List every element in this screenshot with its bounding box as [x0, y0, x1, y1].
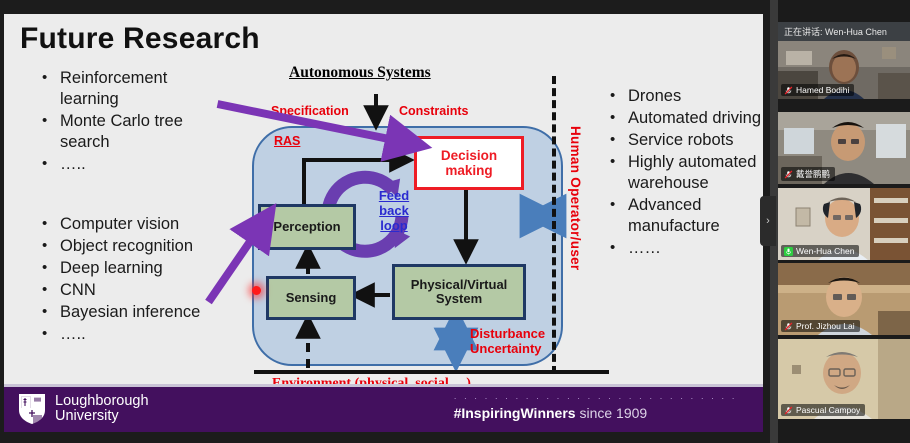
- participant-tile[interactable]: 戴誉鹏鹏: [778, 112, 910, 184]
- meeting-screen: Future Research Reinforcement learning M…: [0, 0, 910, 443]
- participant-name-chip: 戴誉鹏鹏: [781, 167, 835, 181]
- environment-divider: [254, 370, 609, 374]
- active-speaker-banner: 正在讲话: Wen-Hua Chen: [778, 22, 910, 41]
- diagram-label-human-operator: Human Operator/user: [568, 126, 583, 270]
- node-physical-virtual-system: Physical/Virtual System: [392, 264, 526, 320]
- slide-footer: Loughborough University · · · · · · · · …: [4, 384, 763, 432]
- autonomous-system-diagram: Autonomous Systems Specification Constra…: [244, 64, 614, 394]
- list-item: Drones: [604, 86, 763, 107]
- participant-name-chip: Wen-Hua Chen: [781, 245, 859, 257]
- node-feedback-loop: Feed back loop: [366, 188, 422, 233]
- participant-name: Pascual Campoy: [796, 405, 860, 415]
- mic-active-icon: [784, 247, 793, 256]
- chevron-right-icon[interactable]: ›: [760, 196, 776, 246]
- node-decision-making: Decision making: [414, 136, 524, 190]
- list-item: CNN: [36, 280, 236, 301]
- tagline-hashtag: #InspiringWinners: [454, 405, 576, 421]
- participant-name-chip: Hamed Bodihi: [781, 84, 854, 96]
- mic-muted-icon: [784, 86, 793, 95]
- logo-line-2: University: [55, 409, 149, 425]
- bullet-list-methods-bottom: Computer vision Object recognition Deep …: [36, 214, 236, 346]
- participant-name-chip: Prof. Jizhou Lai: [781, 320, 860, 332]
- list-item: Deep learning: [36, 258, 236, 279]
- list-item: …..: [36, 154, 226, 175]
- bullet-list-applications: Drones Automated driving Service robots …: [604, 86, 763, 260]
- mic-muted-icon: [784, 406, 793, 415]
- video-participants-panel: › 正在讲话: Wen-Hua Chen: [778, 0, 910, 443]
- footer-tagline: · · · · · · · · · · · · · · · · · · · · …: [454, 394, 737, 421]
- screen-share-area: Future Research Reinforcement learning M…: [0, 0, 770, 443]
- tagline-since: since 1909: [576, 405, 648, 421]
- participant-tile[interactable]: Prof. Jizhou Lai: [778, 263, 910, 335]
- bullet-list-methods-top: Reinforcement learning Monte Carlo tree …: [36, 68, 226, 176]
- participant-tile[interactable]: Hamed Bodihi: [778, 41, 910, 99]
- mic-muted-icon: [784, 170, 793, 179]
- list-item: Service robots: [604, 130, 763, 151]
- diagram-label-disturbance: Disturbance Uncertainty: [470, 326, 614, 356]
- participant-name: Hamed Bodihi: [796, 85, 849, 95]
- list-item: Object recognition: [36, 236, 236, 257]
- list-item: Reinforcement learning: [36, 68, 226, 110]
- university-logo: Loughborough University: [18, 393, 149, 425]
- presentation-slide: Future Research Reinforcement learning M…: [4, 14, 763, 432]
- participant-name: Prof. Jizhou Lai: [796, 321, 855, 331]
- logo-line-1: Loughborough: [55, 394, 149, 410]
- tagline-text: #InspiringWinners since 1909: [454, 405, 737, 421]
- participant-name: 戴誉鹏鹏: [796, 168, 830, 180]
- participant-tile-active[interactable]: Wen-Hua Chen: [778, 188, 910, 260]
- mic-muted-icon: [784, 322, 793, 331]
- list-item: Highly automated warehouse: [604, 152, 763, 194]
- participant-tile[interactable]: Pascual Campoy: [778, 339, 910, 419]
- node-perception: Perception: [258, 204, 356, 250]
- list-item: …..: [36, 324, 236, 345]
- list-item: Computer vision: [36, 214, 236, 235]
- laser-pointer-dot: [252, 286, 261, 295]
- list-item: ……: [604, 238, 763, 259]
- logo-wordmark: Loughborough University: [55, 394, 149, 425]
- list-item: Automated driving: [604, 108, 763, 129]
- crest-icon: [18, 393, 46, 425]
- page-title: Future Research: [20, 22, 260, 56]
- list-item: Monte Carlo tree search: [36, 111, 226, 153]
- node-sensing: Sensing: [266, 276, 356, 320]
- participant-name: Wen-Hua Chen: [796, 246, 854, 256]
- list-item: Bayesian inference: [36, 302, 236, 323]
- footer-top-rule: [4, 384, 763, 387]
- tagline-dots: · · · · · · · · · · · · · · · · · · · · …: [454, 394, 737, 403]
- participant-name-chip: Pascual Campoy: [781, 404, 865, 416]
- list-item: Advanced manufacture: [604, 195, 763, 237]
